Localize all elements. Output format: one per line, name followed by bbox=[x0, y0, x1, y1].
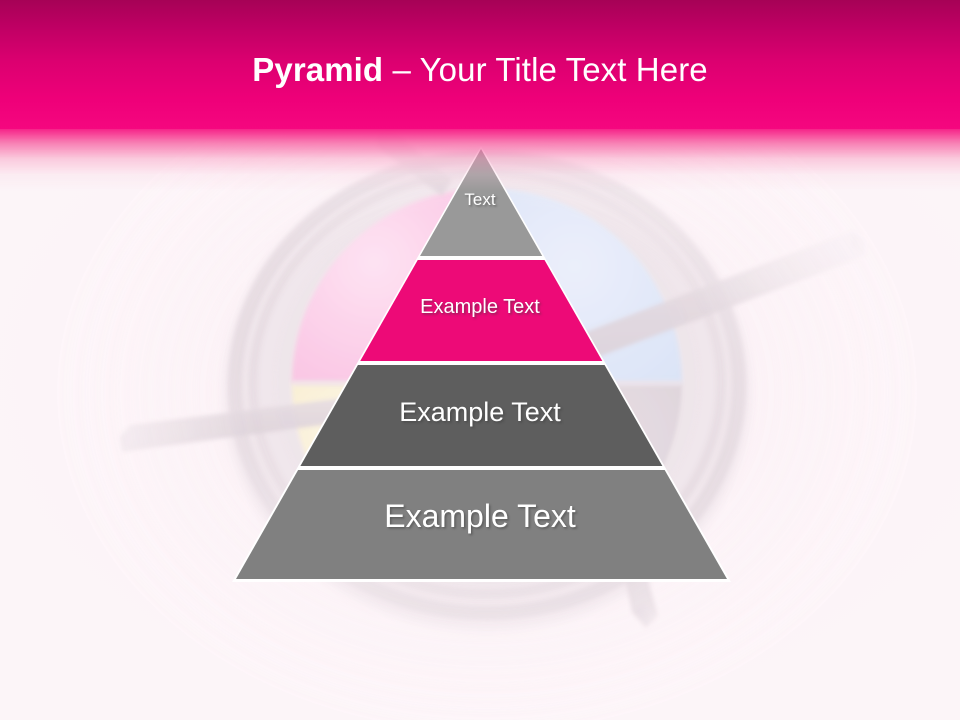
pyramid-level-3[interactable] bbox=[200, 365, 760, 466]
pyramid-divider-1 bbox=[200, 256, 760, 260]
pyramid-level-1[interactable] bbox=[200, 140, 760, 256]
page-title-rest: – Your Title Text Here bbox=[383, 51, 708, 88]
pyramid-level-2[interactable] bbox=[200, 260, 760, 361]
page-title: Pyramid – Your Title Text Here bbox=[0, 50, 960, 90]
pyramid-divider-2 bbox=[200, 361, 760, 365]
slide-canvas: Text Example Text Example Text Example T… bbox=[0, 0, 960, 720]
pyramid-divider-3 bbox=[200, 466, 760, 470]
page-title-strong: Pyramid bbox=[252, 51, 383, 88]
